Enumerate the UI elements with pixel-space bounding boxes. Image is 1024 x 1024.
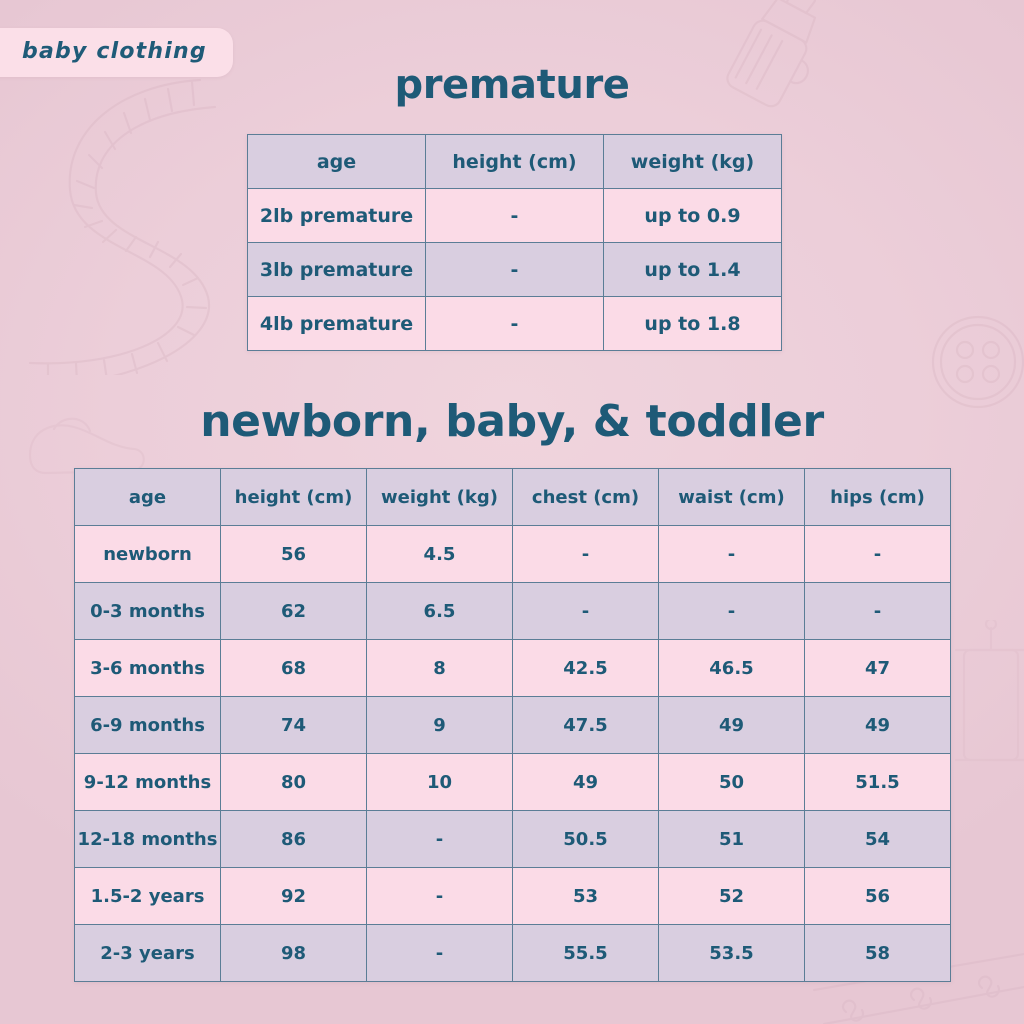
- cell-age: 4lb premature: [248, 297, 426, 351]
- cell-height: 56: [221, 526, 367, 583]
- column-header-weight: weight (kg): [367, 469, 513, 526]
- cell-waist: 46.5: [659, 640, 805, 697]
- cell-hips: -: [805, 526, 951, 583]
- table-row: 0-3 months 62 6.5 - - -: [75, 583, 951, 640]
- premature-table-body: 2lb premature - up to 0.9 3lb premature …: [248, 189, 782, 351]
- column-header-age: age: [248, 135, 426, 189]
- cell-height: 80: [221, 754, 367, 811]
- cell-hips: 51.5: [805, 754, 951, 811]
- cell-chest: 50.5: [513, 811, 659, 868]
- cell-chest: 49: [513, 754, 659, 811]
- cell-chest: -: [513, 583, 659, 640]
- cell-age: 12-18 months: [75, 811, 221, 868]
- cell-waist: -: [659, 583, 805, 640]
- cell-hips: 54: [805, 811, 951, 868]
- cell-age: newborn: [75, 526, 221, 583]
- cell-age: 3lb premature: [248, 243, 426, 297]
- cell-weight: -: [367, 868, 513, 925]
- newborn-table-body: newborn 56 4.5 - - - 0-3 months 62 6.5 -…: [75, 526, 951, 982]
- cell-age: 6-9 months: [75, 697, 221, 754]
- table-header-row: age height (cm) weight (kg): [248, 135, 782, 189]
- cell-height: 68: [221, 640, 367, 697]
- column-header-waist: waist (cm): [659, 469, 805, 526]
- cell-weight: 6.5: [367, 583, 513, 640]
- measuring-tape-doodle: [0, 75, 230, 375]
- table-row: 3-6 months 68 8 42.5 46.5 47: [75, 640, 951, 697]
- cell-weight: up to 1.8: [604, 297, 782, 351]
- cell-height: -: [426, 243, 604, 297]
- column-header-height: height (cm): [221, 469, 367, 526]
- cell-height: 62: [221, 583, 367, 640]
- table-row: newborn 56 4.5 - - -: [75, 526, 951, 583]
- premature-section-title: premature: [0, 62, 1024, 108]
- cell-waist: -: [659, 526, 805, 583]
- cell-chest: 47.5: [513, 697, 659, 754]
- table-row: 3lb premature - up to 1.4: [248, 243, 782, 297]
- cell-waist: 49: [659, 697, 805, 754]
- cell-age: 3-6 months: [75, 640, 221, 697]
- cell-age: 1.5-2 years: [75, 868, 221, 925]
- cell-weight: 4.5: [367, 526, 513, 583]
- cell-chest: -: [513, 526, 659, 583]
- cell-chest: 55.5: [513, 925, 659, 982]
- size-chart-page: baby clothing premature age height (cm) …: [0, 0, 1024, 1024]
- table-row: 2lb premature - up to 0.9: [248, 189, 782, 243]
- cell-weight: up to 0.9: [604, 189, 782, 243]
- cell-weight: up to 1.4: [604, 243, 782, 297]
- cell-weight: 9: [367, 697, 513, 754]
- cell-height: 86: [221, 811, 367, 868]
- newborn-section-title: newborn, baby, & toddler: [0, 396, 1024, 447]
- column-header-chest: chest (cm): [513, 469, 659, 526]
- thread-spool-doodle: [940, 620, 1024, 790]
- cell-age: 0-3 months: [75, 583, 221, 640]
- cell-waist: 50: [659, 754, 805, 811]
- cell-waist: 51: [659, 811, 805, 868]
- cell-weight: -: [367, 811, 513, 868]
- table-row: 12-18 months 86 - 50.5 51 54: [75, 811, 951, 868]
- newborn-table-header: age height (cm) weight (kg) chest (cm) w…: [75, 469, 951, 526]
- cell-age: 2-3 years: [75, 925, 221, 982]
- cell-waist: 52: [659, 868, 805, 925]
- cell-weight: 8: [367, 640, 513, 697]
- table-row: 9-12 months 80 10 49 50 51.5: [75, 754, 951, 811]
- cell-age: 9-12 months: [75, 754, 221, 811]
- table-row: 6-9 months 74 9 47.5 49 49: [75, 697, 951, 754]
- cell-height: 74: [221, 697, 367, 754]
- cell-height: -: [426, 189, 604, 243]
- column-header-weight: weight (kg): [604, 135, 782, 189]
- cell-chest: 42.5: [513, 640, 659, 697]
- cell-chest: 53: [513, 868, 659, 925]
- brand-logo-text: baby clothing: [22, 39, 207, 64]
- cell-weight: 10: [367, 754, 513, 811]
- cell-weight: -: [367, 925, 513, 982]
- column-header-age: age: [75, 469, 221, 526]
- premature-table-header: age height (cm) weight (kg): [248, 135, 782, 189]
- cell-hips: 58: [805, 925, 951, 982]
- table-row: 2-3 years 98 - 55.5 53.5 58: [75, 925, 951, 982]
- table-header-row: age height (cm) weight (kg) chest (cm) w…: [75, 469, 951, 526]
- newborn-baby-toddler-size-table: age height (cm) weight (kg) chest (cm) w…: [74, 468, 951, 982]
- cell-hips: 56: [805, 868, 951, 925]
- premature-size-table: age height (cm) weight (kg) 2lb prematur…: [247, 134, 782, 351]
- cell-height: 92: [221, 868, 367, 925]
- cell-hips: 47: [805, 640, 951, 697]
- cell-height: -: [426, 297, 604, 351]
- cell-waist: 53.5: [659, 925, 805, 982]
- cell-age: 2lb premature: [248, 189, 426, 243]
- column-header-height: height (cm): [426, 135, 604, 189]
- table-row: 4lb premature - up to 1.8: [248, 297, 782, 351]
- table-row: 1.5-2 years 92 - 53 52 56: [75, 868, 951, 925]
- column-header-hips: hips (cm): [805, 469, 951, 526]
- cell-height: 98: [221, 925, 367, 982]
- cell-hips: 49: [805, 697, 951, 754]
- cell-hips: -: [805, 583, 951, 640]
